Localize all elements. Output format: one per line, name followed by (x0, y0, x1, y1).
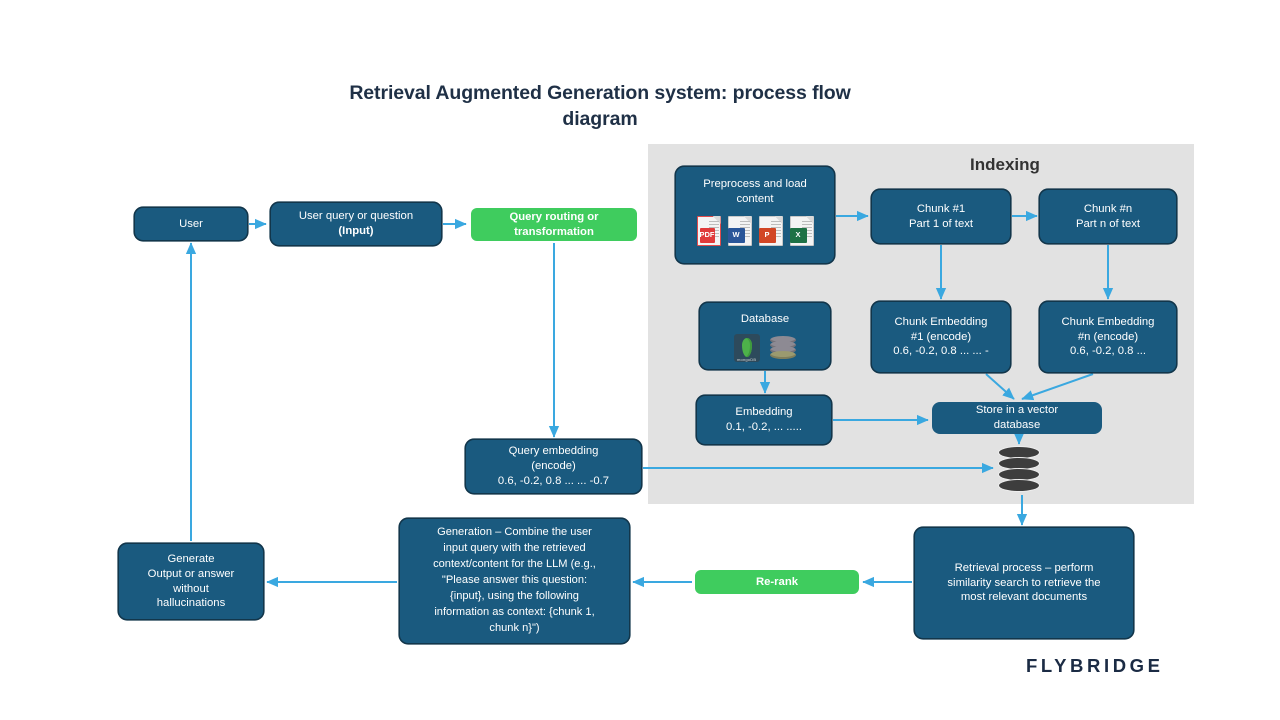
node-query-embedding[interactable]: Query embedding (encode) 0.6, -0.2, 0.8 … (466, 440, 641, 493)
database-icon-group: mongoDB (734, 334, 796, 362)
powerpoint-file-icon-label: P (759, 228, 776, 243)
node-retrieval-process[interactable]: Retrieval process – perform similarity s… (915, 528, 1133, 638)
node-query-embedding-line-1: Query embedding (509, 444, 599, 459)
node-query-embedding-vector: 0.6, -0.2, 0.8 ... ... -0.7 (498, 474, 609, 489)
node-generation-line-6: information as context: {chunk 1, (434, 605, 594, 621)
node-generation-line-3: context/content for the LLM (e.g., (433, 557, 596, 573)
node-embedding-vector: 0.1, -0.2, ... ..... (726, 420, 802, 435)
node-generation-line-7: chunk n}") (489, 621, 539, 637)
node-user-query-line-1: User query or question (299, 209, 413, 224)
page-title-line-1: Retrieval Augmented Generation system: (349, 82, 727, 104)
powerpoint-file-icon: P (759, 216, 783, 246)
node-store-line-2: database (994, 418, 1040, 433)
node-chunk-embedding-n-line-1: Chunk Embedding (1062, 315, 1155, 330)
node-chunk-embedding-n[interactable]: Chunk Embedding #n (encode) 0.6, -0.2, 0… (1040, 302, 1176, 372)
node-rerank[interactable]: Re-rank (695, 570, 859, 594)
word-file-icon-label: W (728, 228, 745, 243)
node-chunk-embedding-1[interactable]: Chunk Embedding #1 (encode) 0.6, -0.2, 0… (872, 302, 1010, 372)
node-generate-output-line-2: Output or answer (148, 567, 235, 582)
node-user-query-line-2: (Input) (338, 224, 373, 239)
excel-file-icon-label: X (790, 228, 807, 243)
node-embedding[interactable]: Embedding 0.1, -0.2, ... ..... (697, 396, 831, 444)
node-retrieval-line-3: most relevant documents (961, 590, 1087, 605)
node-chunk-embedding-1-line-2: #1 (encode) (911, 330, 971, 345)
node-preprocess-line-2: content (736, 192, 773, 207)
mongodb-icon: mongoDB (734, 334, 760, 362)
node-generation-line-5: {input}, using the following (450, 589, 579, 605)
node-chunk-1[interactable]: Chunk #1 Part 1 of text (872, 190, 1010, 243)
node-generate-output[interactable]: Generate Output or answer without halluc… (119, 544, 263, 619)
node-generation-line-2: input query with the retrieved (443, 541, 585, 557)
indexing-panel-label: Indexing (970, 155, 1040, 175)
node-query-routing-line-1: Query routing or (509, 210, 598, 225)
node-chunk-n[interactable]: Chunk #n Part n of text (1040, 190, 1176, 243)
word-file-icon: W (728, 216, 752, 246)
node-generation[interactable]: Generation – Combine the user input quer… (400, 519, 629, 643)
diagram-canvas: Retrieval Augmented Generation system: p… (0, 0, 1280, 720)
node-generate-output-line-1: Generate (167, 552, 214, 567)
node-generation-line-4: "Please answer this question: (442, 573, 587, 589)
node-rerank-label: Re-rank (756, 575, 798, 590)
node-retrieval-line-2: similarity search to retrieve the (947, 576, 1100, 591)
node-chunk-embedding-n-vector: 0.6, -0.2, 0.8 ... (1070, 344, 1146, 359)
node-chunk-1-line-1: Chunk #1 (917, 202, 965, 217)
file-type-icon-group: PDF W P X (697, 216, 814, 246)
node-preprocess-line-1: Preprocess and load (703, 177, 807, 192)
node-database[interactable]: Database mongoDB (700, 303, 830, 369)
node-retrieval-line-1: Retrieval process – perform (955, 561, 1094, 576)
node-generate-output-line-3: without (173, 582, 209, 597)
pdf-file-icon-label: PDF (700, 228, 715, 243)
flybridge-logo: FLYBRIDGE (1026, 655, 1164, 677)
excel-file-icon: X (790, 216, 814, 246)
vector-database-cylinder-icon (998, 446, 1040, 494)
database-cylinder-icon (770, 336, 796, 360)
page-title: Retrieval Augmented Generation system: p… (340, 80, 860, 133)
node-user[interactable]: User (135, 208, 247, 240)
node-preprocess-load-content[interactable]: Preprocess and load content PDF W P X (676, 167, 834, 263)
node-chunk-1-line-2: Part 1 of text (909, 217, 973, 232)
node-chunk-n-line-2: Part n of text (1076, 217, 1140, 232)
node-store-vector-database[interactable]: Store in a vector database (932, 402, 1102, 434)
mongodb-icon-caption: mongoDB (737, 357, 756, 362)
node-store-line-1: Store in a vector (976, 403, 1058, 418)
node-user-label: User (179, 217, 203, 232)
node-query-embedding-line-2: (encode) (531, 459, 576, 474)
pdf-file-icon: PDF (697, 216, 721, 246)
node-chunk-n-line-1: Chunk #n (1084, 202, 1132, 217)
node-chunk-embedding-1-vector: 0.6, -0.2, 0.8 ... ... - (893, 344, 988, 359)
node-embedding-line-1: Embedding (735, 405, 792, 420)
node-query-routing[interactable]: Query routing or transformation (471, 208, 637, 241)
node-database-label: Database (741, 312, 789, 327)
node-chunk-embedding-n-line-2: #n (encode) (1078, 330, 1138, 345)
node-chunk-embedding-1-line-1: Chunk Embedding (895, 315, 988, 330)
node-generation-line-1: Generation – Combine the user (437, 525, 592, 541)
node-query-routing-line-2: transformation (514, 225, 594, 240)
node-user-query[interactable]: User query or question (Input) (271, 203, 441, 245)
node-generate-output-line-4: hallucinations (157, 596, 225, 611)
